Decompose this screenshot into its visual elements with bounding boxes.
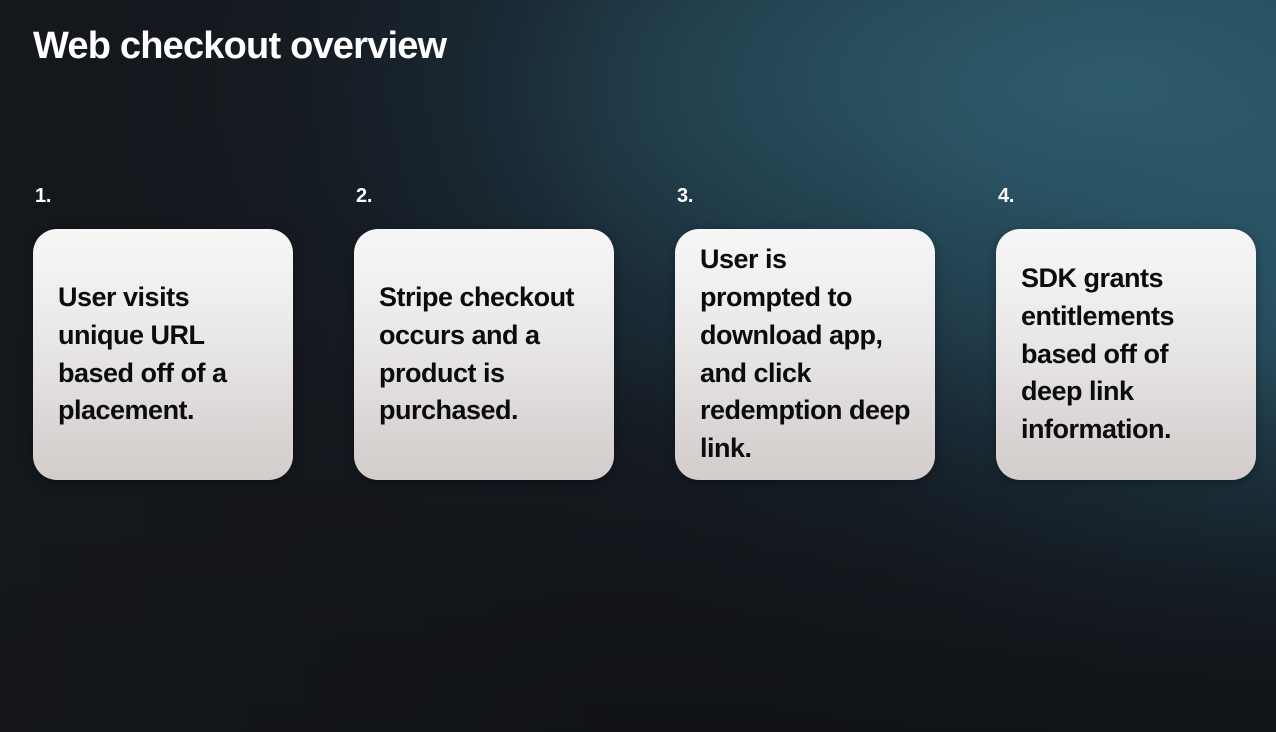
step-3-card[interactable]: User is prompted to download app, and cl…	[675, 229, 935, 480]
steps-row: 1. User visits unique URL based off of a…	[33, 186, 1243, 480]
step-3-number: 3.	[675, 186, 935, 206]
step-1-card[interactable]: User visits unique URL based off of a pl…	[33, 229, 293, 480]
step-1-card-text: User visits unique URL based off of a pl…	[58, 279, 271, 430]
step-4-card[interactable]: SDK grants entitlements based off of dee…	[996, 229, 1256, 480]
step-1: 1. User visits unique URL based off of a…	[33, 186, 293, 480]
step-3: 3. User is prompted to download app, and…	[675, 186, 935, 480]
step-4: 4. SDK grants entitlements based off of …	[996, 186, 1256, 480]
step-2-number: 2.	[354, 186, 614, 206]
step-2: 2. Stripe checkout occurs and a product …	[354, 186, 614, 480]
slide-canvas: Web checkout overview 1. User visits uni…	[0, 0, 1276, 732]
page-title: Web checkout overview	[33, 25, 446, 69]
step-3-card-text: User is prompted to download app, and cl…	[700, 241, 913, 468]
step-4-number: 4.	[996, 186, 1256, 206]
step-2-card[interactable]: Stripe checkout occurs and a product is …	[354, 229, 614, 480]
step-2-card-text: Stripe checkout occurs and a product is …	[379, 279, 592, 430]
step-1-number: 1.	[33, 186, 293, 206]
step-4-card-text: SDK grants entitlements based off of dee…	[1021, 260, 1234, 449]
